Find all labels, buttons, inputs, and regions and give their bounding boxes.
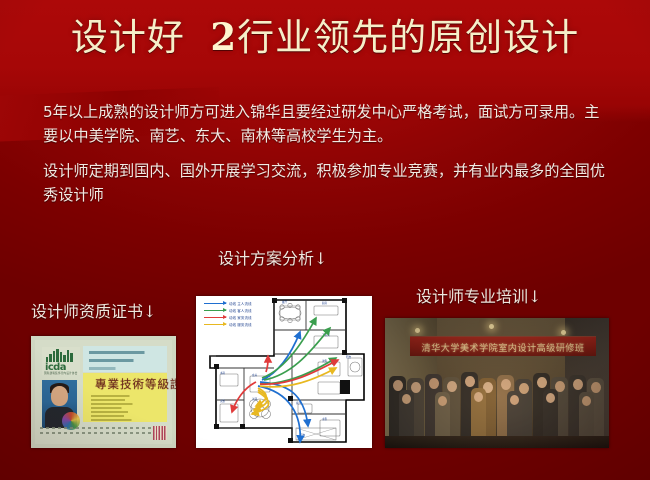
slide-root: 设计好 2行业领先的原创设计 5年以上成熟的设计师方可进入锦华且要经过研发中心严… (0, 0, 650, 480)
title-suffix: 行业领先的原创设计 (237, 16, 579, 59)
svg-text:阳台: 阳台 (346, 355, 352, 359)
svg-text:餐厅: 餐厅 (282, 300, 288, 304)
certificate-title: 專業技術等級證書 (95, 376, 176, 392)
plan-room-labels: 餐厅 厨房 卫生间 阳台 次卧 客厅 主卧 玄关 书房 次卧 过道 阳台 (220, 300, 352, 437)
page-title: 设计好 2行业领先的原创设计 (0, 16, 650, 60)
svg-text:次卧: 次卧 (220, 399, 226, 403)
body-paragraph-2: 设计师定期到国内、国外开展学习交流，积极参加专业竞赛，并有业内最多的全国优秀设计… (43, 159, 613, 207)
floor-plan-image: 动线 主人流线 动线 客人流线 动线 家务流线 动线 服务流线 (196, 296, 372, 448)
body-text-block: 5年以上成熟的设计师方可进入锦华且要经过研发中心严格考试，面试方可录用。主要以中… (43, 100, 613, 207)
logo-bars-icon (46, 349, 73, 362)
logo-subtext: 国际建筑装饰室内设计协会 (44, 371, 78, 375)
certificate-header-band (83, 346, 167, 372)
portrait-face (51, 386, 68, 406)
training-photo: 清华大学美术学院室内设计高级研修班 (385, 318, 609, 448)
svg-text:书房: 书房 (220, 371, 226, 375)
caption-certificate: 设计师资质证书↓ (31, 298, 156, 322)
certificate-detail-panel: 專業技術等級證書 (83, 373, 167, 422)
plan-circulation-arrows (232, 318, 338, 442)
body-paragraph-1: 5年以上成熟的设计师方可进入锦华且要经过研发中心严格考试，面试方可录用。主要以中… (43, 100, 613, 148)
floor-plan-drawing: 餐厅 厨房 卫生间 阳台 次卧 客厅 主卧 玄关 书房 次卧 过道 阳台 (196, 296, 372, 448)
certificate-field-lines (83, 393, 167, 421)
caption-plan: 设计方案分析↓ (218, 245, 327, 269)
svg-text:玄关: 玄关 (252, 373, 258, 377)
certificate-security-stripe (153, 426, 167, 440)
icda-logo-icon: icda 国际建筑装饰室内设计协会 (42, 347, 80, 375)
svg-text:主卧: 主卧 (322, 417, 328, 421)
plan-fixtures (216, 303, 362, 440)
title-number: 2 (210, 15, 237, 59)
svg-text:过道: 过道 (252, 397, 258, 401)
svg-text:厨房: 厨房 (322, 301, 328, 305)
caption-training: 设计师专业培训↓ (416, 283, 541, 307)
certificate-body: icda 国际建筑装饰室内设计协会 專業技術等級證書 (35, 340, 172, 444)
photo-tint-overlay (385, 318, 609, 448)
certificate-footer (40, 424, 167, 440)
certificate-image: icda 国际建筑装饰室内设计协会 專業技術等級證書 (31, 336, 176, 448)
title-prefix: 设计好 (71, 16, 185, 59)
